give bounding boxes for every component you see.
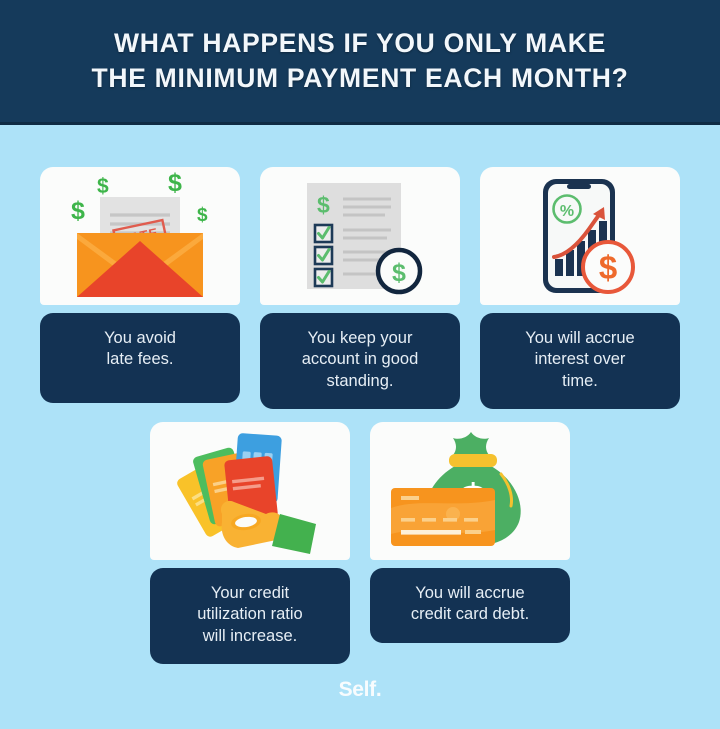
card-media-credit-utilization: [150, 422, 350, 560]
dollar-mark-2: $: [168, 171, 182, 197]
card-media-credit-card-debt: $: [370, 422, 570, 560]
dollar-coin-orange: $: [583, 242, 633, 292]
header-band: WHAT HAPPENS IF YOU ONLY MAKE THE MINIMU…: [0, 0, 720, 125]
dollar-mark-4: $: [197, 205, 208, 226]
brand-logo-self[interactable]: Self.: [339, 678, 382, 701]
envelope-late-letter-icon: $ $ $ $ LATE: [55, 171, 225, 301]
svg-text:$: $: [392, 259, 406, 287]
caption-line: credit card debt.: [411, 605, 529, 623]
card-media-avoid-late-fees: $ $ $ $ LATE: [40, 167, 240, 305]
card-caption-credit-card-debt: You will accrue credit card debt.: [370, 568, 570, 643]
footer: Self.: [0, 678, 720, 702]
hand-holding-credit-cards-icon: [160, 426, 340, 556]
infographic-root: WHAT HAPPENS IF YOU ONLY MAKE THE MINIMU…: [0, 0, 720, 729]
phone-notch: [567, 184, 591, 189]
caption-line: You keep your: [308, 329, 413, 347]
document-dollar-sign: $: [317, 192, 330, 218]
card-avoid-late-fees[interactable]: $ $ $ $ LATE: [40, 167, 240, 403]
caption-line: account in good: [302, 350, 419, 368]
checklist-document-dollar-icon: $: [285, 171, 435, 301]
svg-text:$: $: [599, 249, 617, 286]
caption-line: Your credit: [211, 584, 289, 602]
card-row-bottom: Your credit utilization ratio will incre…: [0, 422, 720, 664]
caption-line: standing.: [327, 372, 394, 390]
caption-line: late fees.: [107, 350, 174, 368]
card-credit-utilization[interactable]: Your credit utilization ratio will incre…: [150, 422, 350, 664]
caption-line: time.: [562, 372, 598, 390]
caption-line: You will accrue: [525, 329, 634, 347]
card-account-good-standing[interactable]: $: [260, 167, 460, 409]
page-title: WHAT HAPPENS IF YOU ONLY MAKE THE MINIMU…: [66, 26, 655, 96]
svg-text:%: %: [560, 203, 574, 220]
hand-sleeve: [272, 514, 316, 554]
card-caption-credit-utilization: Your credit utilization ratio will incre…: [150, 568, 350, 664]
caption-line: utilization ratio: [197, 605, 302, 623]
caption-line: will increase.: [203, 627, 297, 645]
phone-growth-chart-percent-icon: % $: [505, 171, 655, 301]
caption-line: You avoid: [104, 329, 176, 347]
page-title-line-2: THE MINIMUM PAYMENT EACH MONTH?: [92, 61, 629, 96]
money-bag-neck: [453, 432, 489, 455]
card-media-accrue-interest: % $: [480, 167, 680, 305]
page-title-line-1: WHAT HAPPENS IF YOU ONLY MAKE: [92, 26, 629, 61]
dollar-mark-1: $: [97, 175, 109, 198]
dollar-mark-3: $: [71, 197, 85, 225]
card-media-account-good-standing: $: [260, 167, 460, 305]
card-caption-account-good-standing: You keep your account in good standing.: [260, 313, 460, 409]
caption-line: You will accrue: [415, 584, 524, 602]
card-caption-avoid-late-fees: You avoid late fees.: [40, 313, 240, 403]
card-row-top: $ $ $ $ LATE: [0, 167, 720, 409]
card-caption-accrue-interest: You will accrue interest over time.: [480, 313, 680, 409]
money-bag-tie: [449, 454, 497, 467]
credit-card-front: [391, 488, 495, 546]
card-accrue-interest[interactable]: % $ You will accrue interest over time.: [480, 167, 680, 409]
money-bag-credit-card-icon: $: [383, 426, 558, 556]
dollar-coin-badge: $: [378, 250, 420, 292]
caption-line: interest over: [535, 350, 626, 368]
card-credit-card-debt[interactable]: $: [370, 422, 570, 643]
